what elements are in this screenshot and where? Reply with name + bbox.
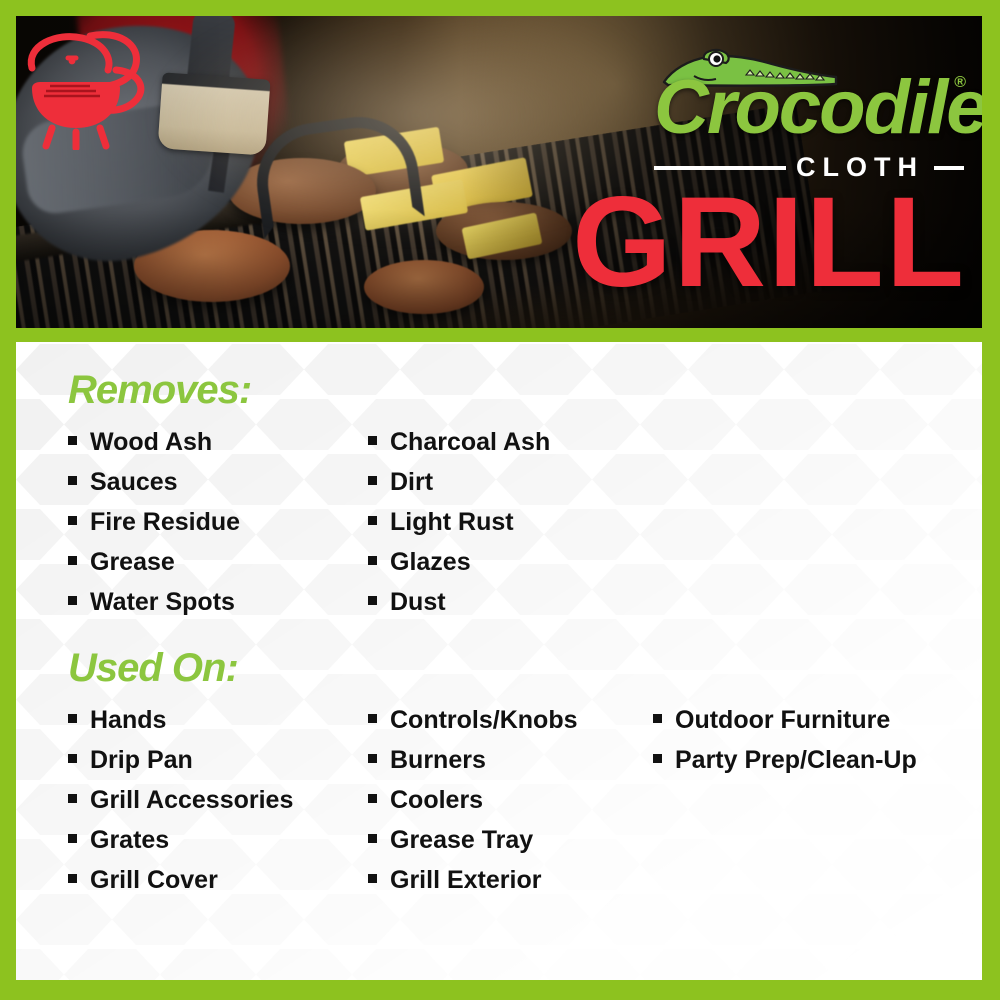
list-item-label: Fire Residue (90, 502, 240, 542)
bullet-square-icon (368, 596, 377, 605)
product-title: GRILL (572, 184, 966, 302)
bullet-square-icon (68, 794, 77, 803)
list-item: Coolers (368, 780, 653, 820)
bullet-square-icon (68, 714, 77, 723)
list-item-label: Grill Exterior (390, 860, 541, 900)
bullet-square-icon (68, 874, 77, 883)
list-item: Drip Pan (68, 740, 368, 780)
list-item: Dust (368, 582, 668, 622)
registered-mark: ® (954, 74, 966, 92)
list-item: Wood Ash (68, 422, 368, 462)
list-item: Grease Tray (368, 820, 653, 860)
removes-column-1: Wood Ash Sauces Fire Residue Grease Wate… (68, 422, 368, 622)
list-item: Charcoal Ash (368, 422, 668, 462)
bullet-square-icon (68, 556, 77, 565)
list-item: Grill Exterior (368, 860, 653, 900)
rule-left (654, 166, 786, 170)
used-on-column-2: Controls/Knobs Burners Coolers Grease Tr… (368, 700, 653, 900)
bullet-square-icon (368, 714, 377, 723)
list-item: Outdoor Furniture (653, 700, 917, 740)
bullet-square-icon (368, 516, 377, 525)
list-item-label: Hands (90, 700, 166, 740)
removes-columns: Wood Ash Sauces Fire Residue Grease Wate… (68, 422, 982, 622)
list-item-label: Dust (390, 582, 446, 622)
list-item-label: Drip Pan (90, 740, 193, 780)
list-item-label: Outdoor Furniture (675, 700, 890, 740)
used-on-column-1: Hands Drip Pan Grill Accessories Grates … (68, 700, 368, 900)
list-item: Dirt (368, 462, 668, 502)
list-item-label: Grease Tray (390, 820, 533, 860)
used-on-column-3: Outdoor Furniture Party Prep/Clean-Up (653, 700, 917, 900)
brand-name: Crocodile (654, 70, 982, 146)
list-item-label: Light Rust (390, 502, 514, 542)
list-item: Glazes (368, 542, 668, 582)
list-item: Hands (68, 700, 368, 740)
bullet-square-icon (68, 754, 77, 763)
bullet-square-icon (368, 556, 377, 565)
bullet-square-icon (68, 596, 77, 605)
brand-lockup: Crocodile ® CLOTH (508, 56, 964, 164)
list-item-label: Party Prep/Clean-Up (675, 740, 917, 780)
list-item: Water Spots (68, 582, 368, 622)
bullet-square-icon (368, 834, 377, 843)
bullet-square-icon (68, 476, 77, 485)
rule-right (934, 166, 964, 170)
list-item: Controls/Knobs (368, 700, 653, 740)
list-item-label: Wood Ash (90, 422, 212, 462)
list-item: Light Rust (368, 502, 668, 542)
list-item-label: Sauces (90, 462, 178, 502)
product-infographic-poster: Crocodile ® CLOTH GRILL (0, 0, 1000, 1000)
kettle-grill-icon (16, 28, 156, 150)
list-item: Grill Accessories (68, 780, 368, 820)
list-item-label: Burners (390, 740, 486, 780)
list-item-label: Glazes (390, 542, 471, 582)
list-item-label: Charcoal Ash (390, 422, 550, 462)
list-item: Grease (68, 542, 368, 582)
list-item-label: Controls/Knobs (390, 700, 578, 740)
bullet-square-icon (368, 794, 377, 803)
bullet-square-icon (368, 436, 377, 445)
list-item: Grates (68, 820, 368, 860)
list-item-label: Water Spots (90, 582, 235, 622)
list-item: Grill Cover (68, 860, 368, 900)
removes-column-2: Charcoal Ash Dirt Light Rust Glazes Dust (368, 422, 668, 622)
bullet-square-icon (368, 476, 377, 485)
list-item-label: Grill Accessories (90, 780, 293, 820)
list-item: Burners (368, 740, 653, 780)
list-item: Fire Residue (68, 502, 368, 542)
list-item: Sauces (68, 462, 368, 502)
details-panel: Removes: Wood Ash Sauces Fire Residue Gr… (16, 342, 982, 980)
bullet-square-icon (68, 834, 77, 843)
list-item: Party Prep/Clean-Up (653, 740, 917, 780)
list-item-label: Grill Cover (90, 860, 218, 900)
list-item-label: Grates (90, 820, 169, 860)
bullet-square-icon (368, 874, 377, 883)
bullet-square-icon (653, 714, 662, 723)
list-item-label: Coolers (390, 780, 483, 820)
list-item-label: Dirt (390, 462, 433, 502)
bullet-square-icon (68, 436, 77, 445)
used-on-columns: Hands Drip Pan Grill Accessories Grates … (68, 700, 982, 900)
bullet-square-icon (68, 516, 77, 525)
bullet-square-icon (368, 754, 377, 763)
removes-heading: Removes: (68, 368, 982, 412)
bullet-square-icon (653, 754, 662, 763)
list-item-label: Grease (90, 542, 175, 582)
hero-banner: Crocodile ® CLOTH GRILL (16, 16, 982, 328)
used-on-heading: Used On: (68, 646, 982, 690)
